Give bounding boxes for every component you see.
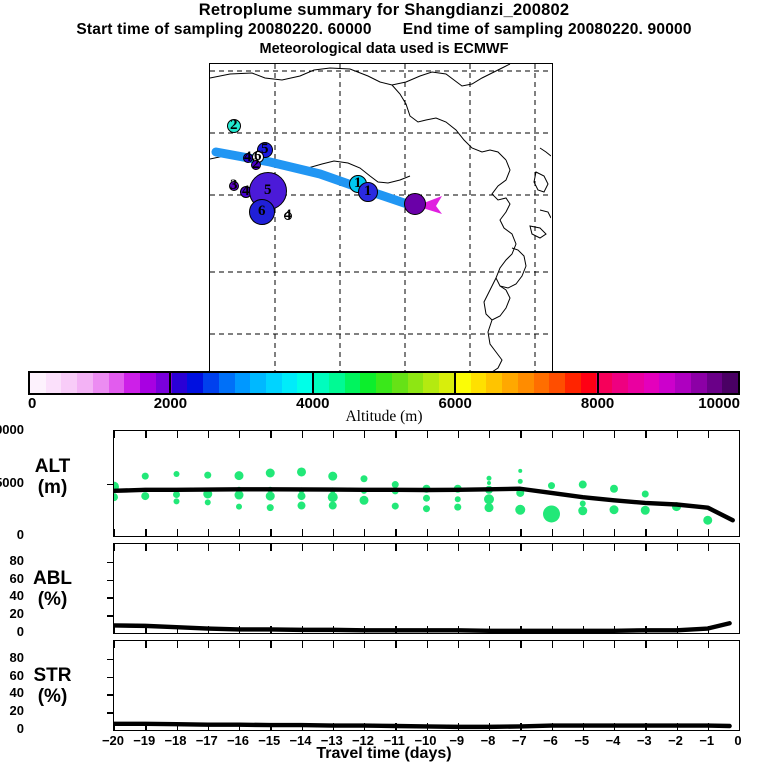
str-ytick-mark-80: [107, 659, 114, 660]
str-xtick--6: [552, 723, 553, 730]
str-xtick--15: [270, 641, 271, 648]
colorbar-segment-35: [581, 373, 597, 393]
str-ytick-0: 0: [0, 721, 24, 736]
alt-cluster-dot: [360, 496, 369, 505]
sampling-times: Start time of sampling 20080220. 60000 E…: [0, 20, 768, 40]
alt-cluster-dot: [266, 492, 275, 501]
str-xtick--14: [302, 723, 303, 730]
alt-xtick--2: [677, 529, 678, 536]
alt-plot-svg: [114, 431, 739, 536]
map-cluster-marker: [404, 193, 426, 215]
alt-xtick--5: [583, 431, 584, 438]
colorbar-segment-1: [46, 373, 62, 393]
alt-cluster-dot: [267, 504, 274, 511]
colorbar-segment-37: [612, 373, 628, 393]
str-xtick--18: [177, 723, 178, 730]
alt-cluster-dot: [392, 481, 399, 488]
alt-xtick--19: [145, 431, 146, 438]
x-axis-title: Travel time (days): [0, 745, 768, 763]
alt-cluster-dot: [174, 471, 180, 477]
map-cluster-label: 4: [284, 208, 292, 223]
str-xtick--19: [145, 723, 146, 730]
abl-xtick-0: [739, 626, 740, 633]
alt-xtick--16: [239, 431, 240, 438]
str-xtick--2: [677, 641, 678, 648]
str-xtick--16: [239, 641, 240, 648]
abl-xtick--7: [520, 544, 521, 551]
alt-cluster-dot: [142, 473, 149, 480]
alt-xtick--9: [458, 431, 459, 438]
alt-cluster-dot: [298, 502, 306, 510]
alt-xtick--3: [645, 431, 646, 438]
alt-cluster-dot: [266, 469, 275, 478]
abl-ytick-80: 80: [0, 553, 24, 568]
map-cluster-label: 2: [230, 118, 238, 133]
str-ytick-mark-20: [107, 712, 114, 713]
alt-xtick-0: [739, 431, 740, 438]
alt-xtick--7: [520, 431, 521, 438]
abl-xtick--5: [583, 626, 584, 633]
alt-xtick--1: [708, 431, 709, 438]
alt-cluster-dot: [236, 504, 242, 510]
colorbar-segment-7: [140, 373, 156, 393]
str-xtick--10: [427, 723, 428, 730]
alt-cluster-dot: [543, 505, 560, 522]
colorbar-segment-33: [549, 373, 565, 393]
title-block: Retroplume summary for Shangdianzi_20080…: [0, 0, 768, 59]
alt-cluster-dots: [114, 467, 712, 524]
colorbar-segment-18: [313, 373, 329, 393]
alt-xtick--2: [677, 431, 678, 438]
alt-xtick--12: [364, 529, 365, 536]
colorbar-segment-6: [124, 373, 140, 393]
str-xtick--7: [520, 641, 521, 648]
alt-cluster-dot: [361, 475, 368, 482]
alt-plot-panel[interactable]: [113, 430, 740, 537]
str-xtick--5: [583, 723, 584, 730]
str-xtick--14: [302, 641, 303, 648]
colorbar-divider-4000: [312, 371, 314, 395]
map-cluster-label: 5: [264, 183, 272, 198]
abl-xtick--7: [520, 626, 521, 633]
abl-series-line: [114, 623, 730, 631]
abl-xtick--18: [177, 544, 178, 551]
abl-xtick--19: [145, 626, 146, 633]
abl-xtick--4: [614, 626, 615, 633]
alt-xtick--8: [489, 431, 490, 438]
alt-xtick--15: [270, 431, 271, 438]
abl-xtick--12: [364, 626, 365, 633]
alt-xtick--12: [364, 431, 365, 438]
str-xtick--17: [208, 723, 209, 730]
alt-xtick--8: [489, 529, 490, 536]
map-cluster-label: 3: [230, 178, 238, 193]
alt-cluster-dot: [515, 505, 525, 515]
alt-xtick--11: [395, 529, 396, 536]
alt-cluster-dot: [578, 506, 587, 515]
str-xtick--13: [333, 723, 334, 730]
alt-cluster-dot: [518, 479, 523, 484]
start-time-label: Start time of sampling 20080220. 60000: [76, 21, 371, 38]
colorbar-segment-29: [486, 373, 502, 393]
abl-ytick-0: 0: [0, 624, 24, 639]
alt-cluster-dot: [579, 481, 587, 489]
abl-xtick--10: [427, 544, 428, 551]
alt-ytick-mark-5000: [107, 484, 114, 485]
alt-xtick--11: [395, 431, 396, 438]
str-xtick--20: [114, 641, 115, 648]
alt-cluster-dot: [454, 504, 461, 511]
alt-cluster-dot: [141, 492, 149, 500]
abl-xtick--20: [114, 626, 115, 633]
alt-ytick-0: 0: [0, 527, 24, 542]
alt-xtick--10: [427, 431, 428, 438]
colorbar-segment-13: [235, 373, 251, 393]
alt-cluster-dot: [297, 467, 306, 476]
alt-cluster-dot: [328, 472, 337, 481]
str-xtick--12: [364, 723, 365, 730]
abl-xtick--2: [677, 626, 678, 633]
colorbar-gradient: [28, 371, 740, 395]
colorbar-segment-2: [61, 373, 77, 393]
map-cluster-label: 2: [252, 157, 260, 172]
str-xtick--1: [708, 723, 709, 730]
colorbar-segment-43: [707, 373, 723, 393]
colorbar-segment-30: [502, 373, 518, 393]
alt-xtick--16: [239, 529, 240, 536]
abl-ytick-40: 40: [0, 588, 24, 603]
alt-cluster-dot: [610, 505, 619, 514]
abl-xtick--10: [427, 626, 428, 633]
colorbar-segment-20: [345, 373, 361, 393]
alt-xtick--20: [114, 431, 115, 438]
altitude-colorbar[interactable]: 0200040006000800010000: [28, 371, 740, 395]
colorbar-segment-26: [439, 373, 455, 393]
alt-ytick-5000: 5000: [0, 475, 24, 490]
abl-xtick--18: [177, 626, 178, 633]
end-time-label: End time of sampling 20080220. 90000: [403, 21, 692, 38]
colorbar-segment-22: [376, 373, 392, 393]
page-title: Retroplume summary for Shangdianzi_20080…: [0, 0, 768, 20]
alt-cluster-dot: [580, 500, 586, 506]
alt-xtick--3: [645, 529, 646, 536]
str-ytick-mark-40: [107, 694, 114, 695]
abl-xtick--17: [208, 626, 209, 633]
alt-xtick--20: [114, 529, 115, 536]
alt-xtick--14: [302, 431, 303, 438]
alt-cluster-dot: [642, 491, 649, 498]
abl-xtick--13: [333, 544, 334, 551]
str-ytick-60: 60: [0, 668, 24, 683]
colorbar-segment-15: [266, 373, 282, 393]
alt-xtick--6: [552, 529, 553, 536]
abl-xtick-0: [739, 544, 740, 551]
str-ytick-20: 20: [0, 703, 24, 718]
str-xtick--11: [395, 723, 396, 730]
colorbar-segment-34: [565, 373, 581, 393]
colorbar-segment-3: [77, 373, 93, 393]
str-ytick-40: 40: [0, 685, 24, 700]
abl-xtick--12: [364, 544, 365, 551]
str-xtick--3: [645, 723, 646, 730]
str-xtick--9: [458, 723, 459, 730]
alt-cluster-dot: [173, 491, 180, 498]
colorbar-segment-23: [392, 373, 408, 393]
colorbar-segment-44: [722, 373, 738, 393]
str-xtick--15: [270, 723, 271, 730]
colorbar-segment-42: [691, 373, 707, 393]
str-xtick--8: [489, 723, 490, 730]
colorbar-segment-27: [455, 373, 471, 393]
alt-xtick--4: [614, 431, 615, 438]
colorbar-segment-5: [109, 373, 125, 393]
alt-xtick--13: [333, 529, 334, 536]
abl-xtick--8: [489, 544, 490, 551]
abl-plot-svg: [114, 544, 739, 633]
str-ytick-80: 80: [0, 650, 24, 665]
alt-cluster-dot: [487, 481, 491, 485]
alt-cluster-dot: [485, 503, 494, 512]
alt-xtick--18: [177, 529, 178, 536]
str-xtick-0: [739, 641, 740, 648]
str-xtick--1: [708, 641, 709, 648]
abl-xtick--4: [614, 544, 615, 551]
colorbar-segment-41: [675, 373, 691, 393]
abl-xtick--1: [708, 626, 709, 633]
str-xtick--20: [114, 723, 115, 730]
colorbar-segment-32: [534, 373, 550, 393]
str-ytick-mark-60: [107, 677, 114, 678]
abl-xtick--5: [583, 544, 584, 551]
alt-xtick--4: [614, 529, 615, 536]
alt-xtick--10: [427, 529, 428, 536]
colorbar-segment-19: [329, 373, 345, 393]
alt-xtick--18: [177, 431, 178, 438]
abl-xtick--3: [645, 544, 646, 551]
colorbar-divider-2000: [169, 371, 171, 395]
map-cluster-label: 6: [258, 204, 266, 219]
str-xtick--16: [239, 723, 240, 730]
alt-xtick--19: [145, 529, 146, 536]
str-xtick--11: [395, 641, 396, 648]
colorbar-divider-6000: [454, 371, 456, 395]
alt-xtick--7: [520, 529, 521, 536]
colorbar-segment-31: [518, 373, 534, 393]
str-xtick--4: [614, 723, 615, 730]
str-xtick--5: [583, 641, 584, 648]
met-data-label: Meteorological data used is ECMWF: [0, 40, 768, 59]
alt-cluster-dot: [455, 496, 461, 502]
abl-xtick--16: [239, 544, 240, 551]
abl-xtick--20: [114, 544, 115, 551]
alt-xtick--6: [552, 431, 553, 438]
colorbar-segment-28: [471, 373, 487, 393]
alt-cluster-dot: [423, 495, 430, 502]
alt-cluster-dot: [610, 485, 618, 493]
abl-ytick-60: 60: [0, 571, 24, 586]
abl-xtick--2: [677, 544, 678, 551]
abl-ytick-20: 20: [0, 606, 24, 621]
alt-xtick--14: [302, 529, 303, 536]
colorbar-segment-16: [282, 373, 298, 393]
str-xtick--6: [552, 641, 553, 648]
colorbar-segment-21: [360, 373, 376, 393]
colorbar-segment-11: [203, 373, 219, 393]
abl-ytick-mark-40: [107, 597, 114, 598]
alt-cluster-dot: [174, 498, 180, 504]
colorbar-segment-0: [30, 373, 46, 393]
str-xtick--8: [489, 641, 490, 648]
abl-xtick--15: [270, 626, 271, 633]
abl-xtick--11: [395, 626, 396, 633]
abl-xtick--16: [239, 626, 240, 633]
alt-cluster-dot: [487, 476, 492, 481]
alt-cluster-dot: [328, 492, 338, 502]
colorbar-segment-40: [659, 373, 675, 393]
str-xtick--12: [364, 641, 365, 648]
alt-cluster-dot: [518, 469, 522, 473]
alt-ytick-10000: 10000: [0, 422, 24, 437]
colorbar-segment-36: [596, 373, 612, 393]
alt-cluster-dot: [329, 502, 337, 510]
str-xtick--19: [145, 641, 146, 648]
str-xtick-0: [739, 723, 740, 730]
alt-cluster-dot: [205, 499, 211, 505]
alt-xtick--13: [333, 431, 334, 438]
abl-ytick-mark-80: [107, 562, 114, 563]
alt-xtick--17: [208, 529, 209, 536]
alt-xtick--5: [583, 529, 584, 536]
colorbar-segment-14: [250, 373, 266, 393]
abl-xtick--3: [645, 626, 646, 633]
str-series-line: [114, 724, 730, 727]
abl-xtick--14: [302, 544, 303, 551]
abl-xtick--15: [270, 544, 271, 551]
abl-xtick--6: [552, 544, 553, 551]
alt-cluster-dot: [703, 516, 712, 525]
str-xtick--9: [458, 641, 459, 648]
alt-cluster-dot: [114, 493, 118, 501]
alt-xtick--9: [458, 529, 459, 536]
alt-cluster-dot: [484, 494, 494, 504]
alt-cluster-dot: [423, 505, 430, 512]
alt-xtick--17: [208, 431, 209, 438]
alt-xtick-0: [739, 529, 740, 536]
abl-xtick--9: [458, 544, 459, 551]
str-xtick--13: [333, 641, 334, 648]
colorbar-segment-9: [172, 373, 188, 393]
alt-cluster-dot: [204, 472, 211, 479]
str-xtick--18: [177, 641, 178, 648]
colorbar-segment-39: [644, 373, 660, 393]
alt-cluster-dot: [392, 503, 399, 510]
abl-xtick--6: [552, 626, 553, 633]
map-cluster-label: 1: [364, 184, 372, 199]
abl-xtick--19: [145, 544, 146, 551]
colorbar-divider-8000: [597, 371, 599, 395]
alt-cluster-dot: [298, 492, 306, 500]
alt-cluster-dot: [641, 506, 650, 515]
str-xtick--10: [427, 641, 428, 648]
abl-xtick--11: [395, 544, 396, 551]
colorbar-segment-25: [423, 373, 439, 393]
str-plot-panel[interactable]: [113, 640, 740, 731]
str-xtick--4: [614, 641, 615, 648]
abl-xtick--14: [302, 626, 303, 633]
str-xtick--2: [677, 723, 678, 730]
abl-xtick--1: [708, 544, 709, 551]
str-plot-svg: [114, 641, 739, 730]
abl-ytick-mark-60: [107, 580, 114, 581]
abl-xtick--8: [489, 626, 490, 633]
alt-cluster-dot: [548, 482, 555, 489]
alt-cluster-dot: [235, 471, 244, 480]
colorbar-segment-12: [219, 373, 235, 393]
abl-xtick--13: [333, 626, 334, 633]
colorbar-segment-38: [628, 373, 644, 393]
colorbar-segment-24: [408, 373, 424, 393]
abl-ytick-mark-20: [107, 615, 114, 616]
abl-plot-panel[interactable]: [113, 543, 740, 634]
retroplume-map[interactable]: 256423456411: [209, 63, 553, 374]
alt-xtick--15: [270, 529, 271, 536]
abl-xtick--9: [458, 626, 459, 633]
str-xtick--3: [645, 641, 646, 648]
abl-xtick--17: [208, 544, 209, 551]
colorbar-segment-10: [187, 373, 203, 393]
colorbar-title: Altitude (m): [0, 408, 768, 426]
colorbar-segment-4: [93, 373, 109, 393]
str-xtick--7: [520, 723, 521, 730]
alt-xtick--1: [708, 529, 709, 536]
str-xtick--17: [208, 641, 209, 648]
alt-cluster-dot: [235, 491, 244, 500]
